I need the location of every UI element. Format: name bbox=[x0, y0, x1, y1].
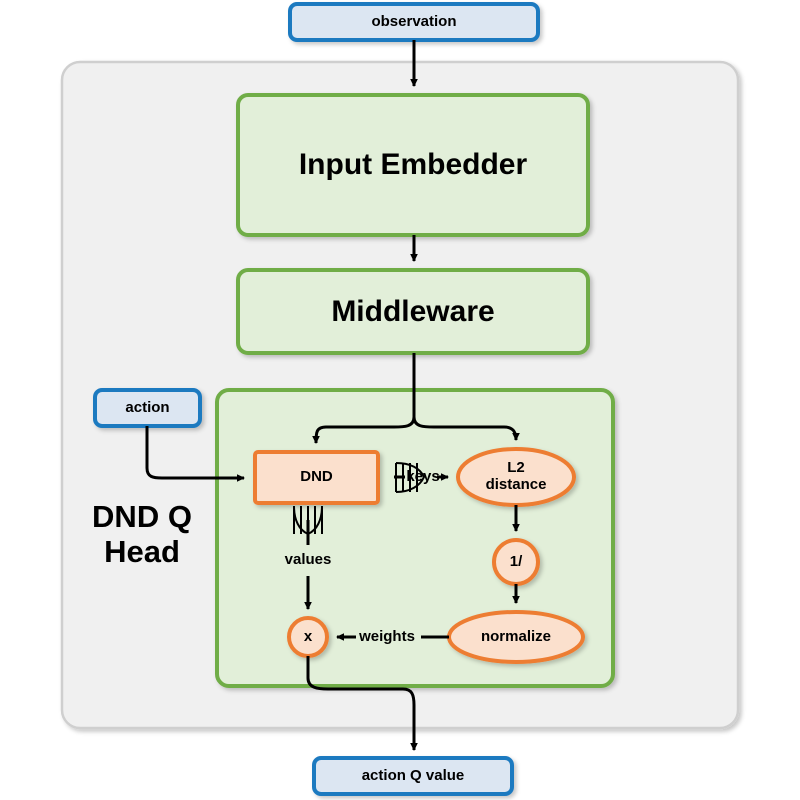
multiply-node[interactable] bbox=[289, 618, 327, 656]
observation-box[interactable] bbox=[290, 4, 538, 40]
reciprocal-node[interactable] bbox=[494, 540, 538, 584]
dnd-box[interactable] bbox=[255, 452, 378, 503]
diagram-canvas: observation action action Q value Input … bbox=[0, 0, 800, 800]
action-q-value-box[interactable] bbox=[314, 758, 512, 794]
action-box[interactable] bbox=[95, 390, 200, 426]
l2-distance-node[interactable] bbox=[458, 449, 574, 505]
middleware-box[interactable] bbox=[238, 270, 588, 353]
input-embedder-box[interactable] bbox=[238, 95, 588, 235]
normalize-node[interactable] bbox=[449, 612, 583, 662]
diagram-vector-layer bbox=[0, 0, 800, 800]
